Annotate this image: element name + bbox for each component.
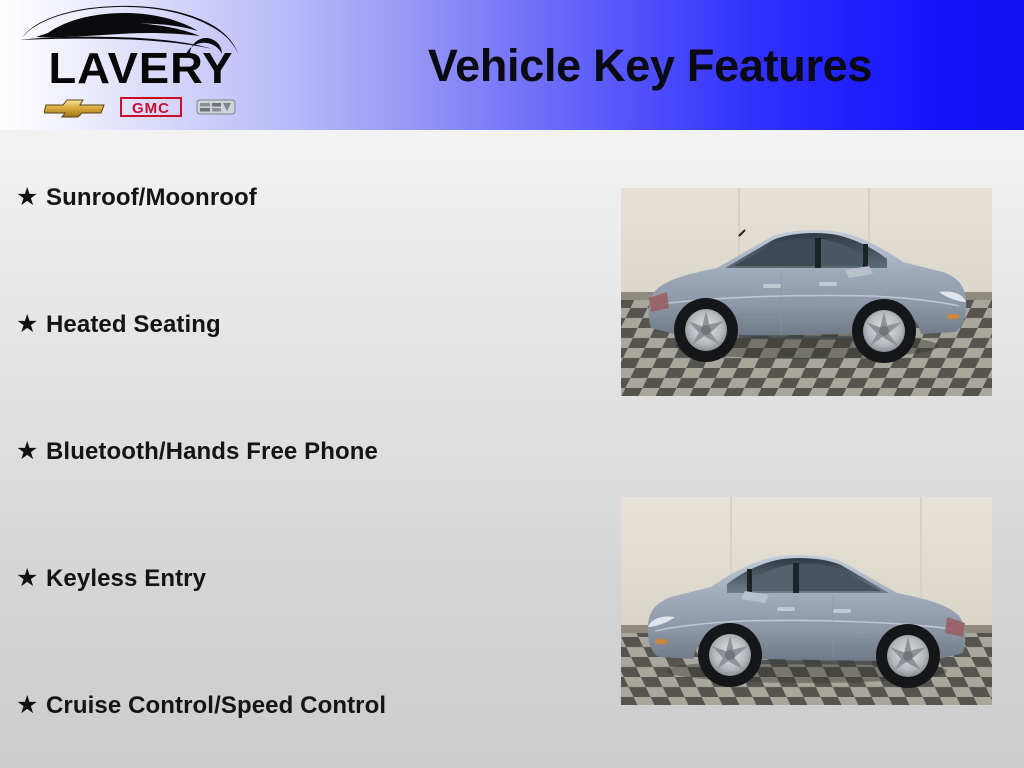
feature-item: ★ Cruise Control/Speed Control: [0, 690, 600, 768]
feature-item: ★ Sunroof/Moonroof: [0, 182, 600, 309]
feature-item: ★ Heated Seating: [0, 309, 600, 436]
vehicle-photo-driver-side: [621, 497, 992, 705]
logo-wordmark: LAVERY: [16, 47, 265, 91]
feature-label: Heated Seating: [46, 310, 221, 340]
feature-label: Sunroof/Moonroof: [46, 183, 257, 213]
cadillac-logo: [196, 96, 236, 118]
star-bullet-icon: ★: [16, 182, 46, 212]
feature-label: Keyless Entry: [46, 564, 206, 594]
star-bullet-icon: ★: [16, 309, 46, 339]
star-bullet-icon: ★: [16, 563, 46, 593]
svg-text:GMC: GMC: [132, 100, 170, 117]
features-list: ★ Sunroof/Moonroof ★ Heated Seating ★ Bl…: [0, 130, 600, 768]
feature-label: Bluetooth/Hands Free Phone: [46, 437, 378, 467]
vehicle-photo-passenger-side: [621, 188, 992, 396]
feature-item: ★ Bluetooth/Hands Free Phone: [0, 436, 600, 563]
feature-item: ★ Keyless Entry: [0, 563, 600, 690]
header-bar: LAVERY GMC: [0, 0, 1024, 130]
vehicle-photo-passenger-side-graphic: [621, 188, 992, 396]
brand-logo-row: GMC: [44, 94, 236, 120]
chevrolet-logo: [44, 96, 106, 118]
vehicle-photo-driver-side-graphic: [621, 497, 992, 705]
dealer-logo: LAVERY GMC: [14, 4, 262, 124]
page-title: Vehicle Key Features: [300, 40, 1000, 92]
feature-label: Cruise Control/Speed Control: [46, 691, 386, 721]
gmc-logo: GMC: [120, 96, 182, 118]
star-bullet-icon: ★: [16, 690, 46, 720]
star-bullet-icon: ★: [16, 436, 46, 466]
